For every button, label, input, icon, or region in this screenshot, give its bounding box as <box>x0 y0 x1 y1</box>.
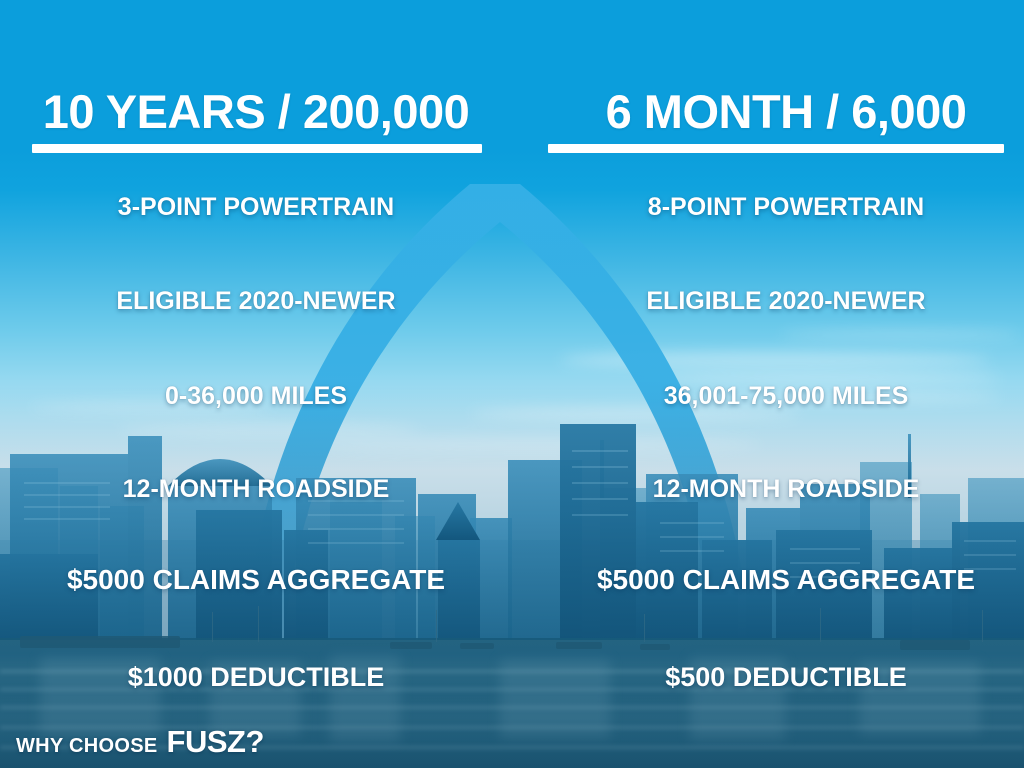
feature-right-powertrain: 8-POINT POWERTRAIN <box>512 193 1024 222</box>
feature-right-claims-aggregate: $5000 CLAIMS AGGREGATE <box>512 564 1024 596</box>
feature-left-eligibility: ELIGIBLE 2020-NEWER <box>0 287 530 316</box>
headline-underline-left <box>32 144 482 153</box>
brand-name: FUSZ? <box>167 724 264 760</box>
headline-underline-right <box>548 144 1004 153</box>
comparison-columns: 10 YEARS / 200,000 3-POINT POWERTRAIN EL… <box>0 0 1024 720</box>
feature-left-powertrain: 3-POINT POWERTRAIN <box>0 193 530 222</box>
brand-tagline: WHY CHOOSE <box>16 735 158 758</box>
brand-lockup: WHY CHOOSE FUSZ? <box>16 724 264 760</box>
promo-graphic: 10 YEARS / 200,000 3-POINT POWERTRAIN EL… <box>0 0 1024 768</box>
plan-column-left: 10 YEARS / 200,000 3-POINT POWERTRAIN EL… <box>0 0 512 720</box>
feature-right-mileage: 36,001-75,000 MILES <box>512 382 1024 411</box>
feature-right-deductible: $500 DEDUCTIBLE <box>512 662 1024 693</box>
plan-column-right: 6 MONTH / 6,000 8-POINT POWERTRAIN ELIGI… <box>512 0 1024 720</box>
feature-right-eligibility: ELIGIBLE 2020-NEWER <box>512 287 1024 316</box>
overlay-content: 10 YEARS / 200,000 3-POINT POWERTRAIN EL… <box>0 0 1024 768</box>
feature-left-claims-aggregate: $5000 CLAIMS AGGREGATE <box>0 564 530 596</box>
feature-left-deductible: $1000 DEDUCTIBLE <box>0 662 530 693</box>
plan-headline-right: 6 MONTH / 6,000 <box>512 88 1024 135</box>
feature-left-mileage: 0-36,000 MILES <box>0 382 530 411</box>
feature-left-roadside: 12-MONTH ROADSIDE <box>0 475 530 504</box>
plan-headline-left: 10 YEARS / 200,000 <box>0 88 530 135</box>
feature-right-roadside: 12-MONTH ROADSIDE <box>512 475 1024 504</box>
